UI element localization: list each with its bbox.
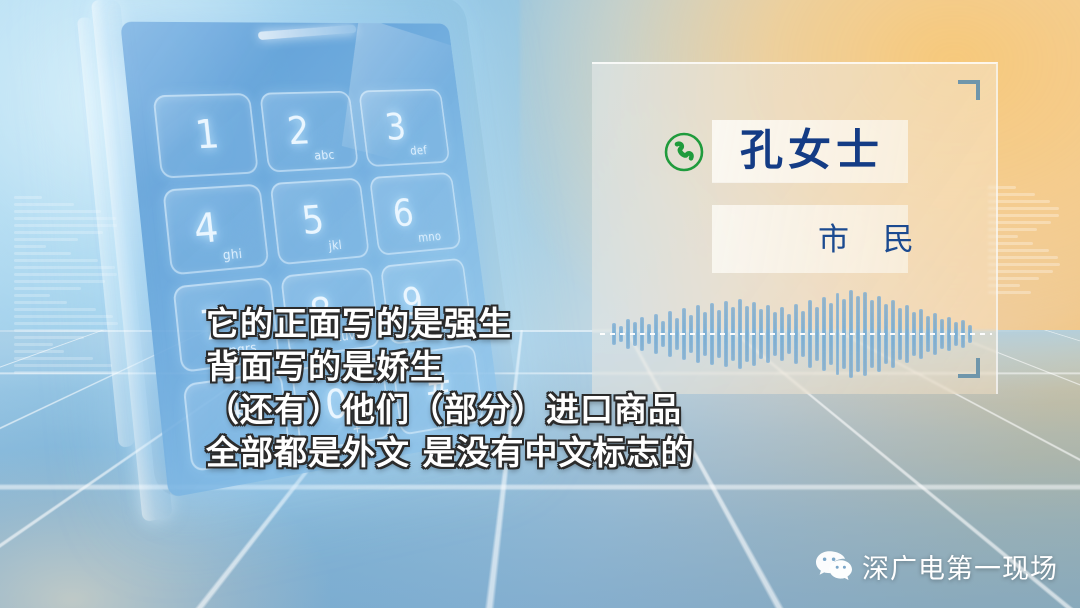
keypad-key-letters: jkl: [328, 238, 344, 260]
caller-name: 孔女士: [740, 125, 884, 177]
channel-watermark: 深广电第一现场: [815, 547, 1058, 586]
keypad-key: 5jkl: [270, 178, 370, 265]
keypad-key: 6mno: [369, 172, 462, 255]
subtitle-line: 它的正面写的是强生: [206, 302, 1080, 345]
subtitle-line: 全部都是外文 是没有中文标志的: [206, 431, 1080, 474]
keypad-key-digit: 2: [285, 112, 311, 151]
phone-handset-circle-icon: [663, 131, 705, 173]
keypad-key-letters: mno: [417, 230, 443, 252]
subtitle-block: 它的正面写的是强生背面写的是娇生（还有）他们（部分）进口商品全部都是外文 是没有…: [0, 302, 1080, 474]
keypad-key: 4ghi: [162, 184, 269, 275]
subtitle-line: （还有）他们（部分）进口商品: [206, 388, 1080, 431]
keypad-key: 1: [153, 93, 260, 179]
keypad-key-digit: 4: [192, 208, 219, 250]
broadcast-video-frame: 12abc3def4ghi5jkl6mno7pqrs8tuv9wxyz*0+# …: [0, 0, 1080, 608]
caller-role: 市 民: [818, 222, 926, 258]
keypad-key-digit: 5: [300, 201, 326, 241]
corner-bracket-top-right-icon: [958, 80, 980, 100]
watermark-label: 深广电第一现场: [862, 547, 1058, 586]
keypad-key-digit: 6: [391, 195, 415, 234]
keypad-key-digit: 1: [193, 115, 220, 155]
keypad-key-letters: abc: [314, 149, 337, 170]
wechat-logo-icon: [815, 549, 853, 585]
keypad-key-letters: ghi: [222, 247, 244, 270]
subtitle-line: 背面写的是娇生: [206, 345, 1080, 388]
